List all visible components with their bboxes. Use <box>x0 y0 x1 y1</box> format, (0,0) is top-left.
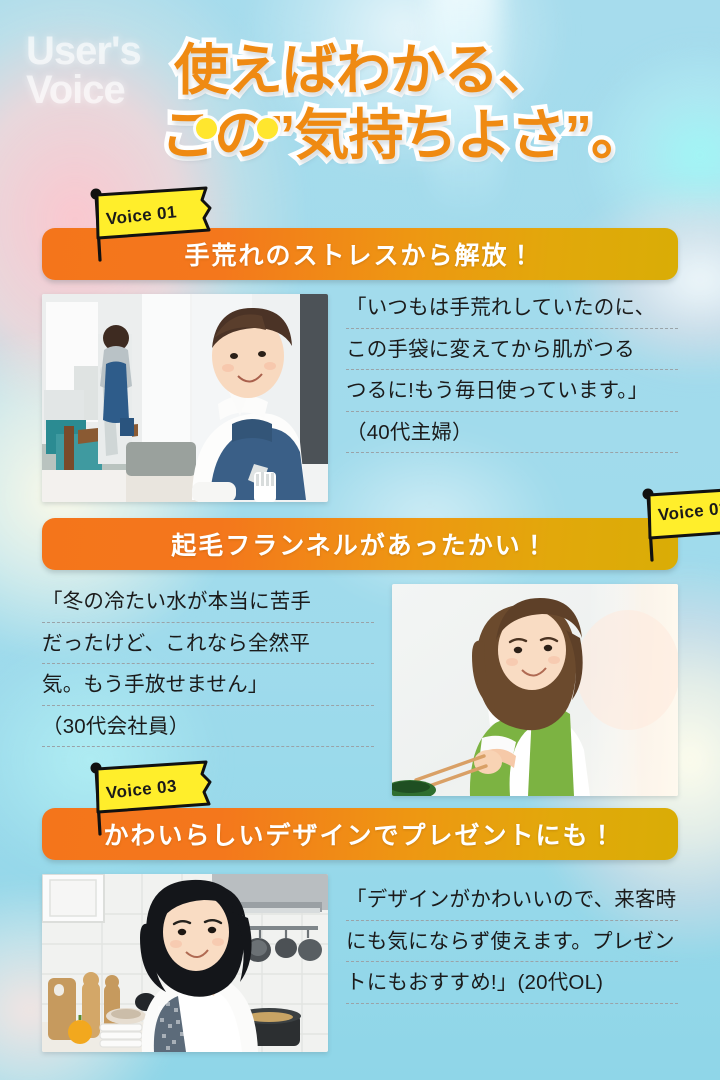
voice-03-photo <box>42 874 328 1052</box>
quote-line: にも気にならず使えます。プレゼン <box>346 930 678 963</box>
flag-icon <box>78 760 228 838</box>
emphasis-dot-2 <box>257 118 278 139</box>
quote-line: 「いつもは手荒れしていたのに、 <box>346 296 678 329</box>
voice-02-banner: Voice 02 起毛フランネルがあったかい！ <box>42 518 678 570</box>
quote-line: 「デザインがかわいいので、来客時 <box>346 888 678 921</box>
quote-line: だったけど、これなら全然平 <box>42 632 374 665</box>
emphasis-dots <box>196 118 278 139</box>
flag-icon <box>78 186 228 264</box>
voice-01-flag: Voice 01 <box>78 186 228 264</box>
voice-01-content: 「いつもは手荒れしていたのに、 この手袋に変えてから肌がつる つるに!もう毎日使… <box>0 294 720 502</box>
emphasis-dot-1 <box>196 118 217 139</box>
watermark-line-1: User's <box>26 32 141 71</box>
photo-woman-kitchen <box>42 874 328 1052</box>
quote-author: トにもおすすめ!」(20代OL) <box>346 971 678 1004</box>
quote-line: 「冬の冷たい水が本当に苦手 <box>42 590 374 623</box>
voice-01-banner-text: 手荒れのストレスから解放！ <box>184 236 535 272</box>
voice-01-quote: 「いつもは手荒れしていたのに、 この手袋に変えてから肌がつる つるに!もう毎日使… <box>346 294 678 462</box>
quote-line: 気。もう手放せません」 <box>42 673 374 706</box>
quote-line: つるに!もう毎日使っています。」 <box>346 379 678 412</box>
user-voice-poster: User's Voice 使えばわかる、 この”気持ちよさ”。 Voice 01… <box>0 0 720 1080</box>
quote-author: （30代会社員） <box>42 715 374 748</box>
voice-02-flag: Voice 02 <box>630 486 720 564</box>
voice-01-photo <box>42 294 328 502</box>
voice-03-banner: Voice 03 かわいらしいデザインでプレゼントにも！ <box>42 808 678 860</box>
voice-03-flag: Voice 03 <box>78 760 228 838</box>
user-voice-watermark: User's Voice <box>26 32 141 110</box>
voice-section-02: Voice 02 起毛フランネルがあったかい！ <box>0 518 720 796</box>
headline-line-1: 使えばわかる、 <box>160 38 700 103</box>
flag-icon <box>630 486 720 564</box>
voice-section-03: Voice 03 かわいらしいデザインでプレゼントにも！ <box>0 808 720 1052</box>
voice-02-photo <box>392 584 678 796</box>
photo-woman-green-apron <box>392 584 678 796</box>
voice-02-quote: 「冬の冷たい水が本当に苦手 だったけど、これなら全然平 気。もう手放せません」 … <box>42 584 374 756</box>
voice-03-content: 「デザインがかわいいので、来客時 にも気にならず使えます。プレゼン トにもおすす… <box>0 874 720 1052</box>
quote-line: この手袋に変えてから肌がつる <box>346 338 678 371</box>
voice-02-banner-text: 起毛フランネルがあったかい！ <box>171 526 549 562</box>
voice-section-01: Voice 01 手荒れのストレスから解放！ <box>0 228 720 502</box>
quote-author: （40代主婦） <box>346 421 678 454</box>
watermark-line-2: Voice <box>26 71 141 110</box>
page-title: 使えばわかる、 この”気持ちよさ”。 <box>160 38 700 168</box>
photo-woman-denim-apron <box>42 294 328 502</box>
voice-01-banner: Voice 01 手荒れのストレスから解放！ <box>42 228 678 280</box>
voice-03-quote: 「デザインがかわいいので、来客時 にも気にならず使えます。プレゼン トにもおすす… <box>346 874 678 1013</box>
